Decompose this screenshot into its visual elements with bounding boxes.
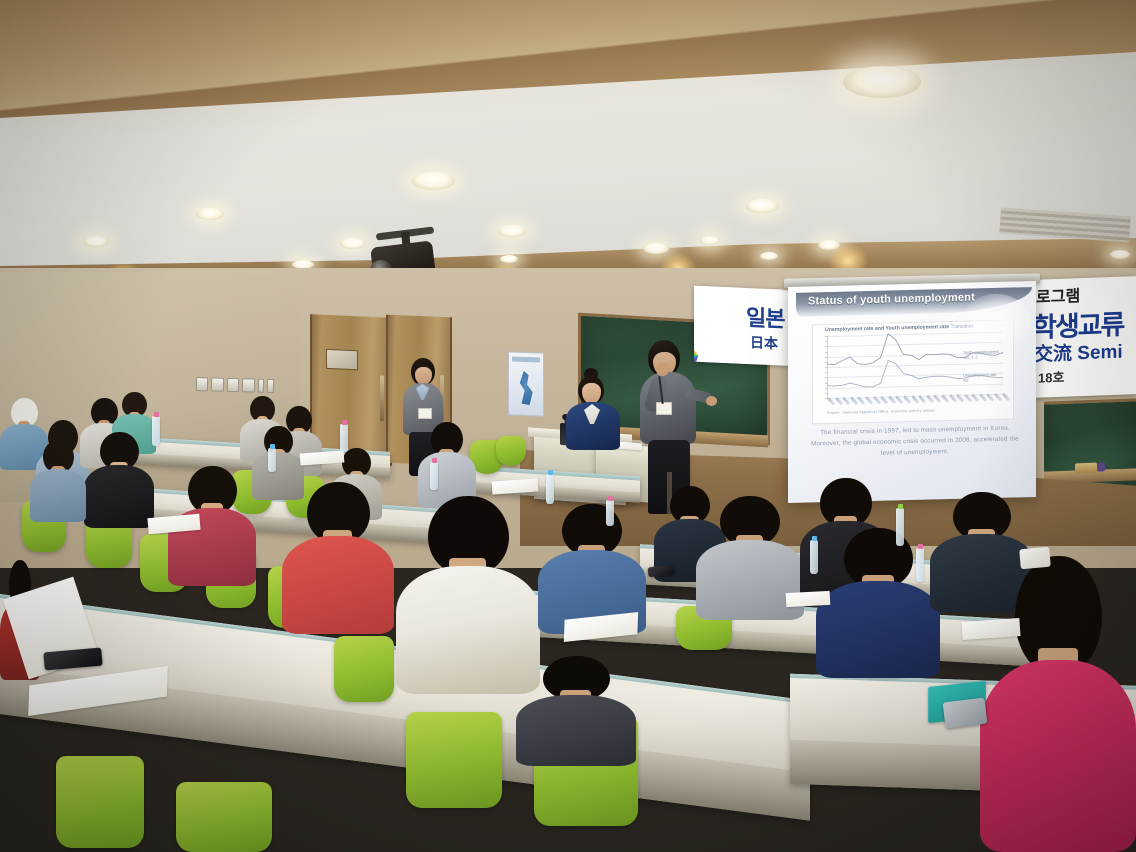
chart-x-tick [941,394,949,403]
chair[interactable] [56,756,144,848]
projection-screen: Status of youth unemployment Unemploymen… [788,281,1036,503]
water-bottle[interactable] [430,462,438,490]
bottle-cap [342,420,347,425]
bottle-cap [154,412,159,417]
bottle-cap [812,536,817,541]
audience-member-pink [980,556,1136,852]
switch-plate[interactable] [211,377,224,391]
torso [30,469,86,522]
banner-right: 로그램 학생교류 交流 Semi 18호 [1032,276,1136,398]
chair[interactable] [334,636,394,702]
ceiling-downlight [643,243,669,254]
bottle-cap [432,458,437,463]
switch-plate[interactable] [227,378,240,392]
door-handle[interactable] [380,375,384,421]
switch-plate[interactable] [242,378,255,392]
torso [696,540,804,620]
wall-poster [508,351,544,416]
staff-badge [418,408,432,419]
handout-paper[interactable] [786,591,831,607]
water-bottle[interactable] [340,424,348,452]
banner-left-japanese: 日本 [750,332,778,353]
legend-overall-line2: %2 [963,379,969,383]
seated-moderator [566,370,622,448]
switch-plate[interactable] [267,379,274,393]
ceiling-downlight [700,236,720,245]
bottle-cap [270,444,275,449]
bottle-cap [898,504,903,509]
chair[interactable] [406,712,502,808]
lecture-hall-photo: 일본 츄오 日本 로그램 학생교류 交流 Semi 18호 Status of … [0,0,1136,852]
water-bottle[interactable] [810,540,818,574]
chart-x-tick [1002,393,1010,402]
legend-overall-line1: Unemployment rate, [963,373,997,378]
legend-youth-line2: rate, 1 :1 [963,356,978,360]
water-bottle[interactable] [268,448,276,472]
water-bottle[interactable] [606,500,614,526]
switch-plate[interactable] [257,379,264,393]
ceiling-downlight [411,172,455,190]
chart-title-main: Unemployment rate and Youth unemployment… [825,324,949,333]
chair[interactable] [496,436,526,466]
ceiling-downlight [1110,250,1130,259]
water-bottle[interactable] [916,548,924,582]
ceiling-downlight [760,252,778,260]
poster-figure [515,371,537,406]
presenter-hand-right [706,396,717,406]
water-bottle[interactable] [546,474,554,504]
torso [516,695,636,766]
bottle-cap [918,544,923,549]
torso [980,660,1136,852]
ceiling-downlight [843,66,921,98]
switch-plate[interactable] [196,377,209,391]
wooden-double-door[interactable] [310,314,392,466]
door-window [326,349,358,370]
torso [84,465,154,528]
torso [282,536,394,634]
audience-member-red [282,482,394,634]
presenter-badge [656,402,672,415]
wall-light-switches[interactable] [196,377,274,393]
chart-title: Unemployment rate and Youth unemployment… [825,324,973,334]
tissue-pack [1019,547,1051,570]
ceiling-downlight [196,208,224,220]
ceiling-downlight [497,225,527,237]
bottle-cap [608,496,613,501]
smartphone[interactable] [943,698,988,729]
ceiling-downlight [745,199,779,213]
poster-header [512,357,540,363]
audience-member [30,440,86,522]
ceiling-downlight [83,236,109,247]
torso [816,581,940,678]
chart-legend-overall: Unemployment rate, %2 [963,373,997,384]
chair[interactable] [176,782,272,852]
audience-member-jacket [516,656,636,766]
water-bottle[interactable] [896,508,904,546]
audience-member-glasses [84,432,154,528]
presenter-hand [656,362,669,376]
banner-right-line3: 交流 Semi [1034,337,1123,367]
chalkboard-eraser[interactable] [1075,463,1097,474]
water-bottle[interactable] [152,416,160,446]
banner-right-line4: 18호 [1038,367,1064,387]
slide-body-text: The financial crisis in 1997, led to mas… [808,423,1022,461]
bottle-cap [548,470,553,475]
